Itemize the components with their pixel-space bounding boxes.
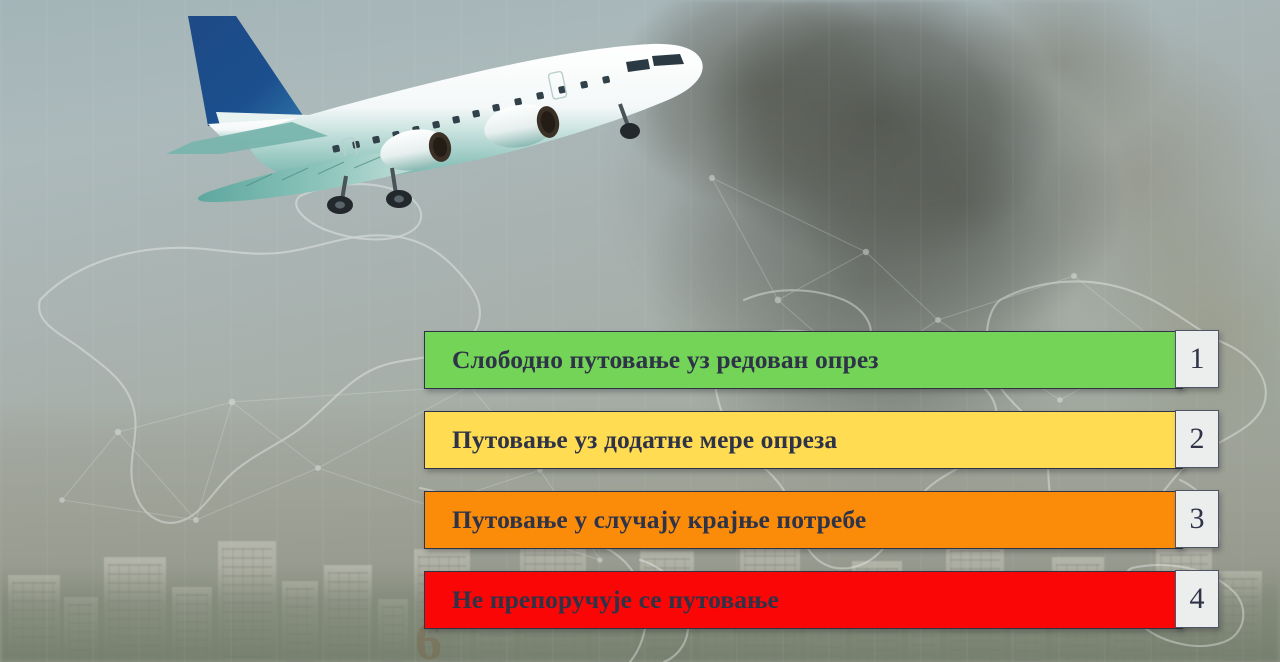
- advisory-level-bar-1[interactable]: Слободно путовање уз редован опрез: [424, 331, 1183, 389]
- airplane-graphic: [96, 4, 756, 234]
- advisory-level-bar-2[interactable]: Путовање уз додатне мере опреза: [424, 411, 1183, 469]
- advisory-level-row-3[interactable]: Путовање у случају крајње потребе 3: [424, 491, 1218, 549]
- advisory-level-label-4: Не препоручује се путовање: [425, 587, 779, 613]
- advisory-level-number-3: 3: [1175, 490, 1219, 548]
- advisory-infographic: 6 Слободно путовање уз редован опрез 1 П…: [0, 0, 1280, 662]
- advisory-level-number-1: 1: [1175, 330, 1219, 388]
- advisory-level-row-4[interactable]: Не препоручује се путовање 4: [424, 571, 1218, 629]
- advisory-level-row-1[interactable]: Слободно путовање уз редован опрез 1: [424, 331, 1218, 389]
- advisory-level-bar-3[interactable]: Путовање у случају крајње потребе: [424, 491, 1183, 549]
- advisory-level-label-3: Путовање у случају крајње потребе: [425, 507, 866, 533]
- advisory-levels-list: Слободно путовање уз редован опрез 1 Пут…: [424, 331, 1218, 629]
- advisory-level-number-4: 4: [1175, 570, 1219, 628]
- advisory-level-number-2: 2: [1175, 410, 1219, 468]
- advisory-level-label-1: Слободно путовање уз редован опрез: [425, 347, 879, 373]
- advisory-level-row-2[interactable]: Путовање уз додатне мере опреза 2: [424, 411, 1218, 469]
- advisory-level-label-2: Путовање уз додатне мере опреза: [425, 427, 837, 453]
- advisory-level-bar-4[interactable]: Не препоручује се путовање: [424, 571, 1183, 629]
